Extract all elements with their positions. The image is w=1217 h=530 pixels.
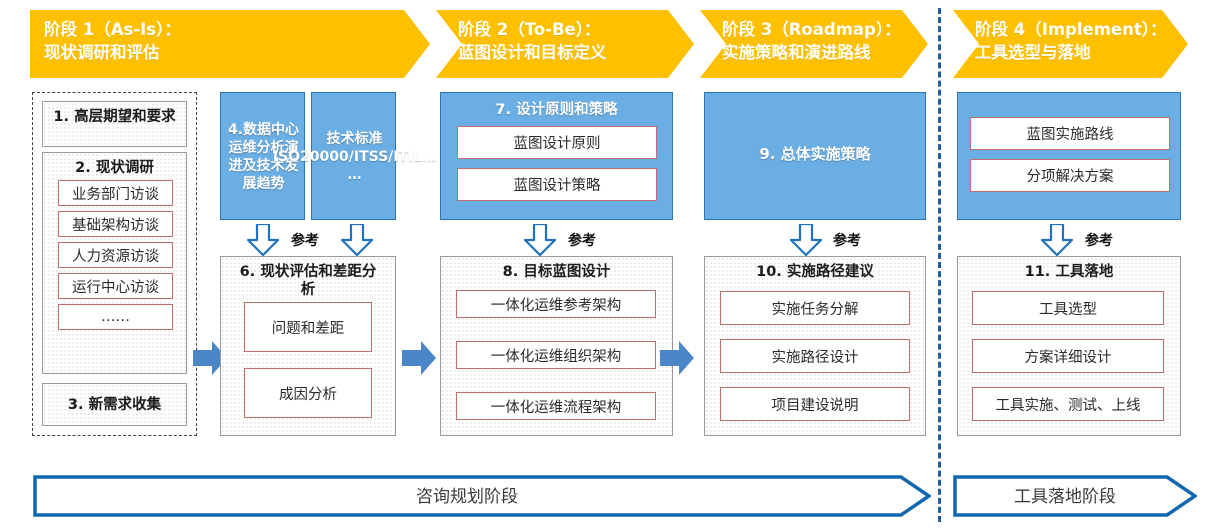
phase-banner-1[interactable]: 阶段 1（As-Is）： 现状调研和评估 [30,10,430,78]
phase-banner-3[interactable]: 阶段 3（Roadmap）： 实施策略和演进路线 [700,10,928,78]
phase-group-divider [938,8,941,522]
box-8-item-1[interactable]: 一体化运维参考架构 [456,290,656,318]
phase-4-line2: 工具选型与落地 [975,41,1188,64]
box-9-title: 9. 总体实施策略 [705,145,925,164]
diagram-canvas: 阶段 1（As-Is）： 现状调研和评估 阶段 2（To-Be）： 蓝图设计和目… [0,0,1217,530]
box-2-title: 2. 现状调研 [43,159,186,177]
box-7-item-2[interactable]: 蓝图设计策略 [457,168,657,201]
box-9-overall-strategy[interactable]: 9. 总体实施策略 [704,92,926,220]
box-7-item-1[interactable]: 蓝图设计原则 [457,126,657,159]
phase-1-line1: 阶段 1（As-Is）： [44,18,430,41]
phase-banner-2[interactable]: 阶段 2（To-Be）： 蓝图设计和目标定义 [436,10,694,78]
reference-down-arrow-col4 [790,224,822,256]
box-3-new-requirements[interactable]: 3. 新需求收集 [42,383,187,426]
box-7-title: 7. 设计原则和策略 [441,101,672,119]
reference-down-arrow-col2-left [247,224,279,256]
arrow-col2-to-col3 [402,340,436,376]
box-tech-standards[interactable]: 技术标准ISO20000/ITSS/ITIL… … [311,92,396,220]
box-tech-standards-text: 技术标准ISO20000/ITSS/ITIL… … [312,93,397,221]
phase-4-line1: 阶段 4（Implement）： [975,18,1188,41]
box-8-title: 8. 目标蓝图设计 [441,263,672,281]
box-1-high-level-expectations[interactable]: 1. 高层期望和要求 [42,101,187,147]
arrow-col3-to-col4 [660,340,694,376]
box-blueprint-delivery[interactable] [957,92,1181,220]
phase-3-line2: 实施策略和演进路线 [722,41,928,64]
reference-label-col3: 参考 [568,230,596,250]
box-8-item-3[interactable]: 一体化运维流程架构 [456,392,656,420]
box-col5-item-2[interactable]: 分项解决方案 [970,159,1170,192]
box-10-item-2[interactable]: 实施路径设计 [720,339,910,373]
reference-down-arrow-col5 [1041,224,1073,256]
phase-2-line2: 蓝图设计和目标定义 [458,41,694,64]
box-6-item-1[interactable]: 问题和差距 [244,302,372,352]
box-8-item-2[interactable]: 一体化运维组织架构 [456,341,656,369]
box-2-item-5[interactable]: …… [58,304,173,330]
box-2-item-2[interactable]: 基础架构访谈 [58,211,173,237]
phase-banner-4[interactable]: 阶段 4（Implement）： 工具选型与落地 [953,10,1188,78]
box-11-item-1[interactable]: 工具选型 [972,291,1164,325]
box-1-title: 1. 高层期望和要求 [43,108,186,126]
box-2-item-4[interactable]: 运行中心访谈 [58,273,173,299]
bottom-banner-consulting-label: 咨询规划阶段 [416,487,518,507]
box-3-title: 3. 新需求收集 [43,396,186,414]
phase-2-line1: 阶段 2（To-Be）： [458,18,694,41]
box-2-item-1[interactable]: 业务部门访谈 [58,180,173,206]
reference-down-arrow-col3 [524,224,556,256]
box-10-title: 10. 实施路径建议 [705,263,925,281]
reference-label-col5: 参考 [1085,230,1113,250]
box-col5-item-1[interactable]: 蓝图实施路线 [970,117,1170,150]
bottom-banner-tooling[interactable]: 工具落地阶段 [953,475,1197,517]
box-10-item-1[interactable]: 实施任务分解 [720,291,910,325]
reference-down-arrow-col2-right [341,224,373,256]
bottom-banner-tooling-label: 工具落地阶段 [1014,487,1116,507]
reference-label-col2: 参考 [291,230,319,250]
box-2-item-3[interactable]: 人力资源访谈 [58,242,173,268]
reference-label-col4: 参考 [833,230,861,250]
box-11-item-2[interactable]: 方案详细设计 [972,339,1164,373]
box-6-item-2[interactable]: 成因分析 [244,368,372,418]
bottom-banner-consulting[interactable]: 咨询规划阶段 [33,475,931,517]
box-10-item-3[interactable]: 项目建设说明 [720,387,910,421]
box-6-title: 6. 现状评估和差距分析 [221,263,395,299]
box-11-item-3[interactable]: 工具实施、测试、上线 [972,387,1164,421]
box-11-title: 11. 工具落地 [958,263,1180,281]
phase-3-line1: 阶段 3（Roadmap）： [722,18,928,41]
phase-1-line2: 现状调研和评估 [44,41,430,64]
